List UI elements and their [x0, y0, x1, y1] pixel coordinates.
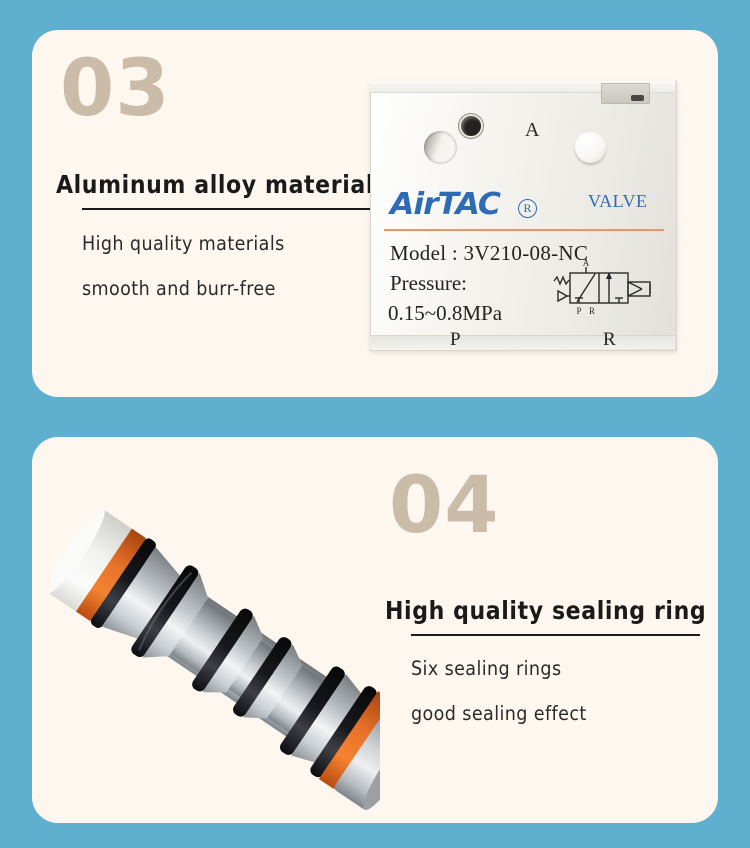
feature-text-block-04: 04 High quality sealing ring Six sealing… — [385, 469, 715, 725]
valve-metal-tab — [601, 83, 650, 104]
feature-subline-04-2: good sealing effect — [411, 702, 715, 725]
schematic-label-a: A — [583, 258, 590, 268]
valve-label-a: A — [525, 119, 539, 142]
valve-port-right — [575, 132, 606, 163]
feature-panel-03: 03 Aluminum alloy material High quality … — [32, 30, 718, 397]
feature-headline-03: Aluminum alloy material — [56, 170, 386, 199]
pneumatic-schematic-icon: A P R — [546, 257, 664, 323]
valve-divider-line — [384, 229, 664, 231]
feature-text-block-03: 03 Aluminum alloy material High quality … — [56, 52, 386, 300]
airtac-logo: AirTAC — [390, 187, 500, 222]
valve-label-r: R — [603, 329, 616, 351]
feature-number-03: 03 — [60, 52, 386, 126]
feature-panel-04: 04 High quality sealing ring Six sealing… — [32, 437, 718, 823]
registered-trademark-icon: R — [518, 199, 537, 218]
valve-word-label: VALVE — [588, 191, 648, 212]
valve-label-p: P — [450, 329, 461, 351]
valve-bottom-lip — [370, 335, 675, 349]
feature-headline-04: High quality sealing ring — [385, 596, 715, 625]
feature-subline-03-1: High quality materials — [82, 232, 386, 255]
valve-port-left — [424, 131, 457, 164]
valve-manual-override-button — [459, 114, 483, 138]
schematic-label-r: R — [589, 306, 595, 316]
valve-pressure-range: 0.15~0.8MPa — [388, 301, 502, 326]
feature-number-04: 04 — [389, 469, 715, 543]
schematic-label-p: P — [576, 306, 581, 316]
feature-subline-03-2: smooth and burr-free — [82, 277, 386, 300]
solenoid-valve-image: A AirTAC R VALVE Model : 3V210-08-NC Pre… — [370, 81, 675, 349]
headline-underline-03 — [82, 208, 370, 210]
valve-pressure-label: Pressure: — [390, 271, 467, 296]
headline-underline-04 — [411, 634, 700, 636]
feature-subline-04-1: Six sealing rings — [411, 657, 715, 680]
